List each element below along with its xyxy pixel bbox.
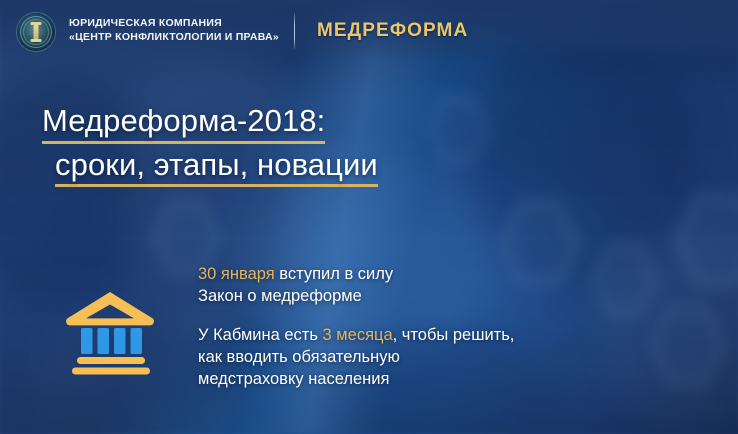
icon-base-bars <box>72 357 150 375</box>
title-line-1: Медреформа-2018: <box>42 103 325 144</box>
slide-header: ЮРИДИЧЕСКАЯ КОМПАНИЯ «ЦЕНТР КОНФЛИКТОЛОГ… <box>0 0 738 62</box>
paragraph-1-rest: вступил в силу <box>275 265 393 283</box>
icon-pediment <box>66 292 154 325</box>
classical-bank-building-icon <box>64 284 156 376</box>
title-row-2: сроки, этапы, новации <box>42 144 378 188</box>
paragraph-1-line2: Закон о медреформе <box>198 287 362 305</box>
paragraph-2-pre: У Кабмина есть <box>198 326 323 344</box>
seal-pillar-emblem <box>34 24 39 40</box>
paragraph-2-post: , чтобы решить, <box>393 326 515 344</box>
company-seal-logo <box>17 13 55 51</box>
presentation-slide: ЮРИДИЧЕСКАЯ КОМПАНИЯ «ЦЕНТР КОНФЛИКТОЛОГ… <box>0 0 738 434</box>
highlight-duration: 3 месяца <box>323 326 393 344</box>
title-line-2: сроки, этапы, новации <box>55 147 378 188</box>
title-row-1: Медреформа-2018: <box>42 103 378 144</box>
company-name-line1: ЮРИДИЧЕСКАЯ КОМПАНИЯ <box>69 17 279 31</box>
highlight-date: 30 января <box>198 265 275 283</box>
company-name-line2: «ЦЕНТР КОНФЛИКТОЛОГИИ И ПРАВА» <box>69 31 279 45</box>
company-name: ЮРИДИЧЕСКАЯ КОМПАНИЯ «ЦЕНТР КОНФЛИКТОЛОГ… <box>69 17 279 45</box>
brand-title: МЕДРЕФОРМА <box>317 20 468 42</box>
paragraph-2: У Кабмина есть 3 месяца, чтобы решить, к… <box>198 324 668 391</box>
paragraph-2-line3: медстраховку населения <box>198 370 389 388</box>
page-title: Медреформа-2018: сроки, этапы, новации <box>42 103 378 187</box>
header-divider <box>294 13 295 49</box>
paragraph-1: 30 января вступил в силу Закон о медрефо… <box>198 263 668 308</box>
icon-columns <box>81 328 142 354</box>
body-text: 30 января вступил в силу Закон о медрефо… <box>198 263 668 390</box>
paragraph-2-line2: как вводить обязательную <box>198 348 400 366</box>
